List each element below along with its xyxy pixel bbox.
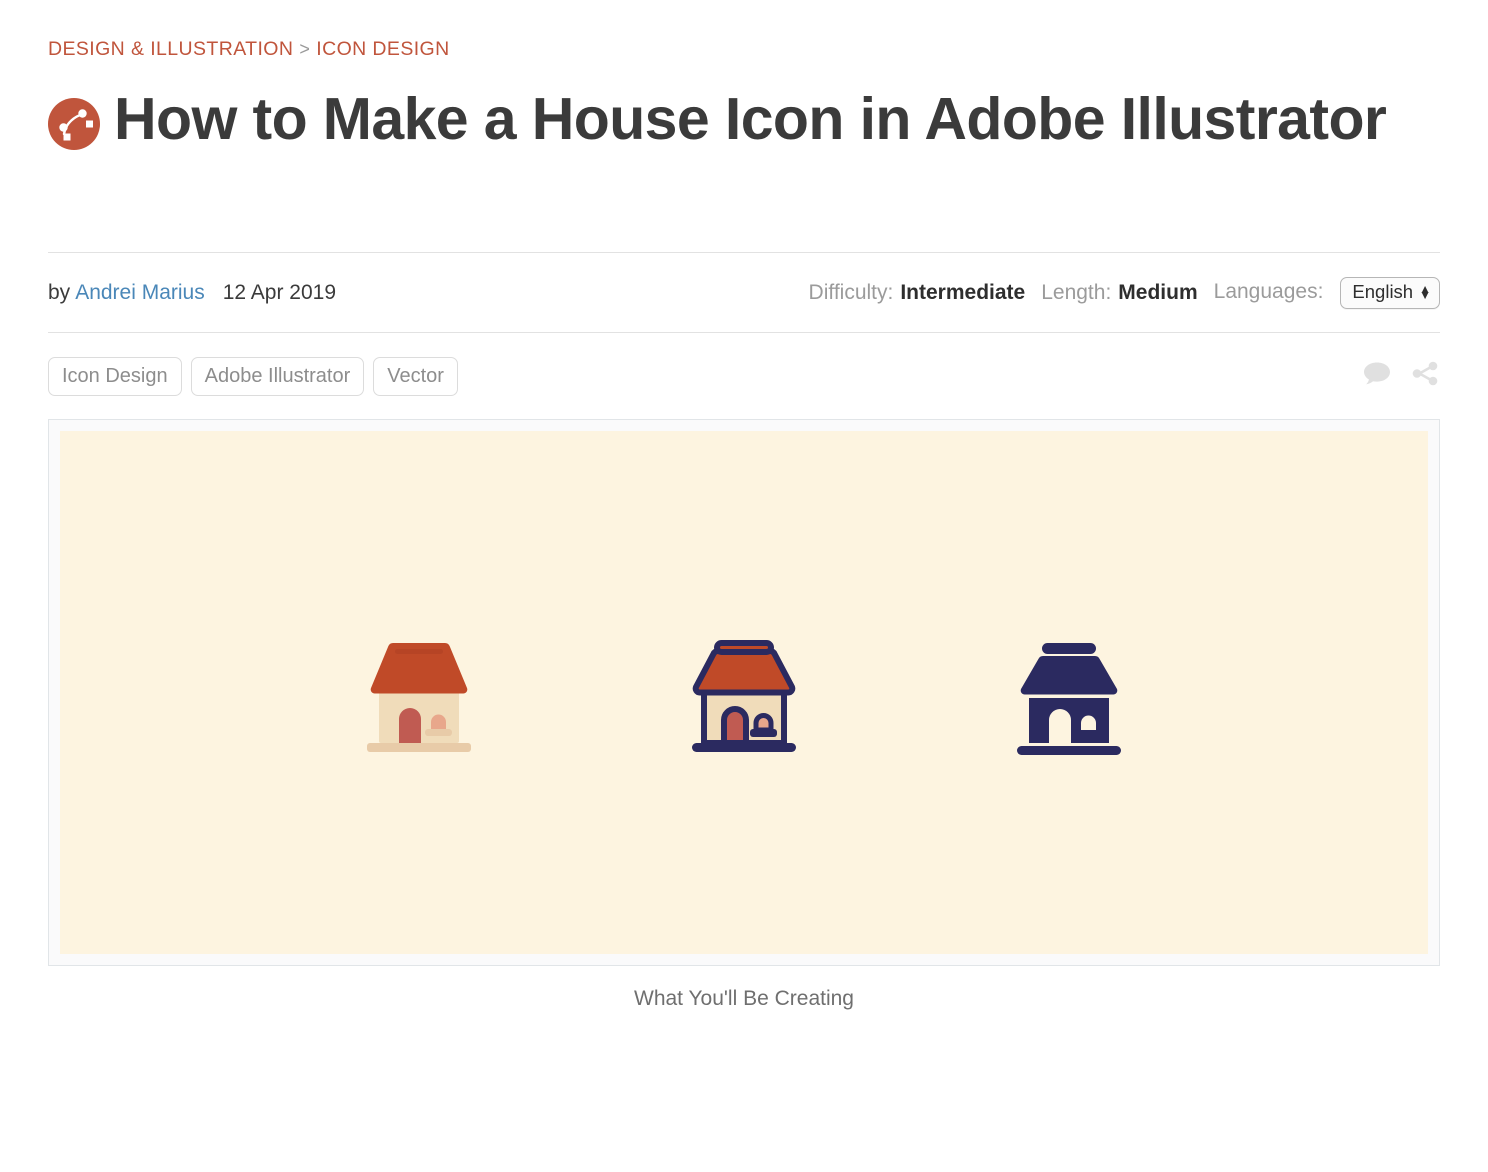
byline-prefix: by — [48, 281, 70, 304]
article-attributes: Difficulty: Intermediate Length: Medium … — [809, 277, 1440, 308]
tag-item[interactable]: Vector — [373, 357, 458, 396]
page-title: How to Make a House Icon in Adobe Illust… — [114, 86, 1386, 152]
page-title-row: How to Make a House Icon in Adobe Illust… — [48, 84, 1440, 156]
difficulty-value: Intermediate — [900, 281, 1025, 305]
comment-icon[interactable] — [1362, 360, 1392, 392]
length-label: Length: — [1041, 281, 1111, 305]
figure-canvas — [60, 431, 1428, 954]
select-arrows-icon: ▲▼ — [1419, 286, 1431, 298]
breadcrumb-item-category[interactable]: DESIGN & ILLUSTRATION — [48, 38, 293, 60]
tags-row: Icon Design Adobe Illustrator Vector — [48, 333, 1440, 419]
house-icon-solid-glyph — [999, 623, 1139, 763]
figure-frame — [48, 419, 1440, 966]
language-select[interactable]: English ▲▼ — [1340, 277, 1440, 308]
languages-attribute: Languages: English ▲▼ — [1214, 277, 1440, 308]
figure-caption: What You'll Be Creating — [48, 987, 1440, 1011]
share-icon[interactable] — [1410, 360, 1440, 392]
house-icon-flat-color — [349, 623, 489, 763]
difficulty-attribute: Difficulty: Intermediate — [809, 281, 1026, 305]
bezier-path-icon — [48, 98, 100, 150]
author-link[interactable]: Andrei Marius — [75, 281, 205, 304]
breadcrumb-item-subcategory[interactable]: ICON DESIGN — [316, 38, 449, 60]
difficulty-label: Difficulty: — [809, 281, 894, 305]
article-actions — [1344, 360, 1440, 392]
article-meta-row: byAndrei Marius12 Apr 2019 Difficulty: I… — [48, 253, 1440, 332]
byline: byAndrei Marius12 Apr 2019 — [48, 281, 336, 305]
languages-label: Languages: — [1214, 280, 1324, 304]
house-icon-outlined-color — [674, 623, 814, 763]
breadcrumb-separator: > — [293, 39, 316, 59]
tag-list: Icon Design Adobe Illustrator Vector — [48, 357, 467, 396]
language-select-value: English — [1352, 281, 1413, 303]
publish-date: 12 Apr 2019 — [223, 281, 336, 304]
length-value: Medium — [1118, 281, 1197, 305]
tag-item[interactable]: Icon Design — [48, 357, 182, 396]
breadcrumb: DESIGN & ILLUSTRATION>ICON DESIGN — [48, 0, 1440, 60]
article-page: DESIGN & ILLUSTRATION>ICON DESIGN How to… — [0, 0, 1488, 1172]
tag-item[interactable]: Adobe Illustrator — [191, 357, 365, 396]
length-attribute: Length: Medium — [1041, 281, 1197, 305]
